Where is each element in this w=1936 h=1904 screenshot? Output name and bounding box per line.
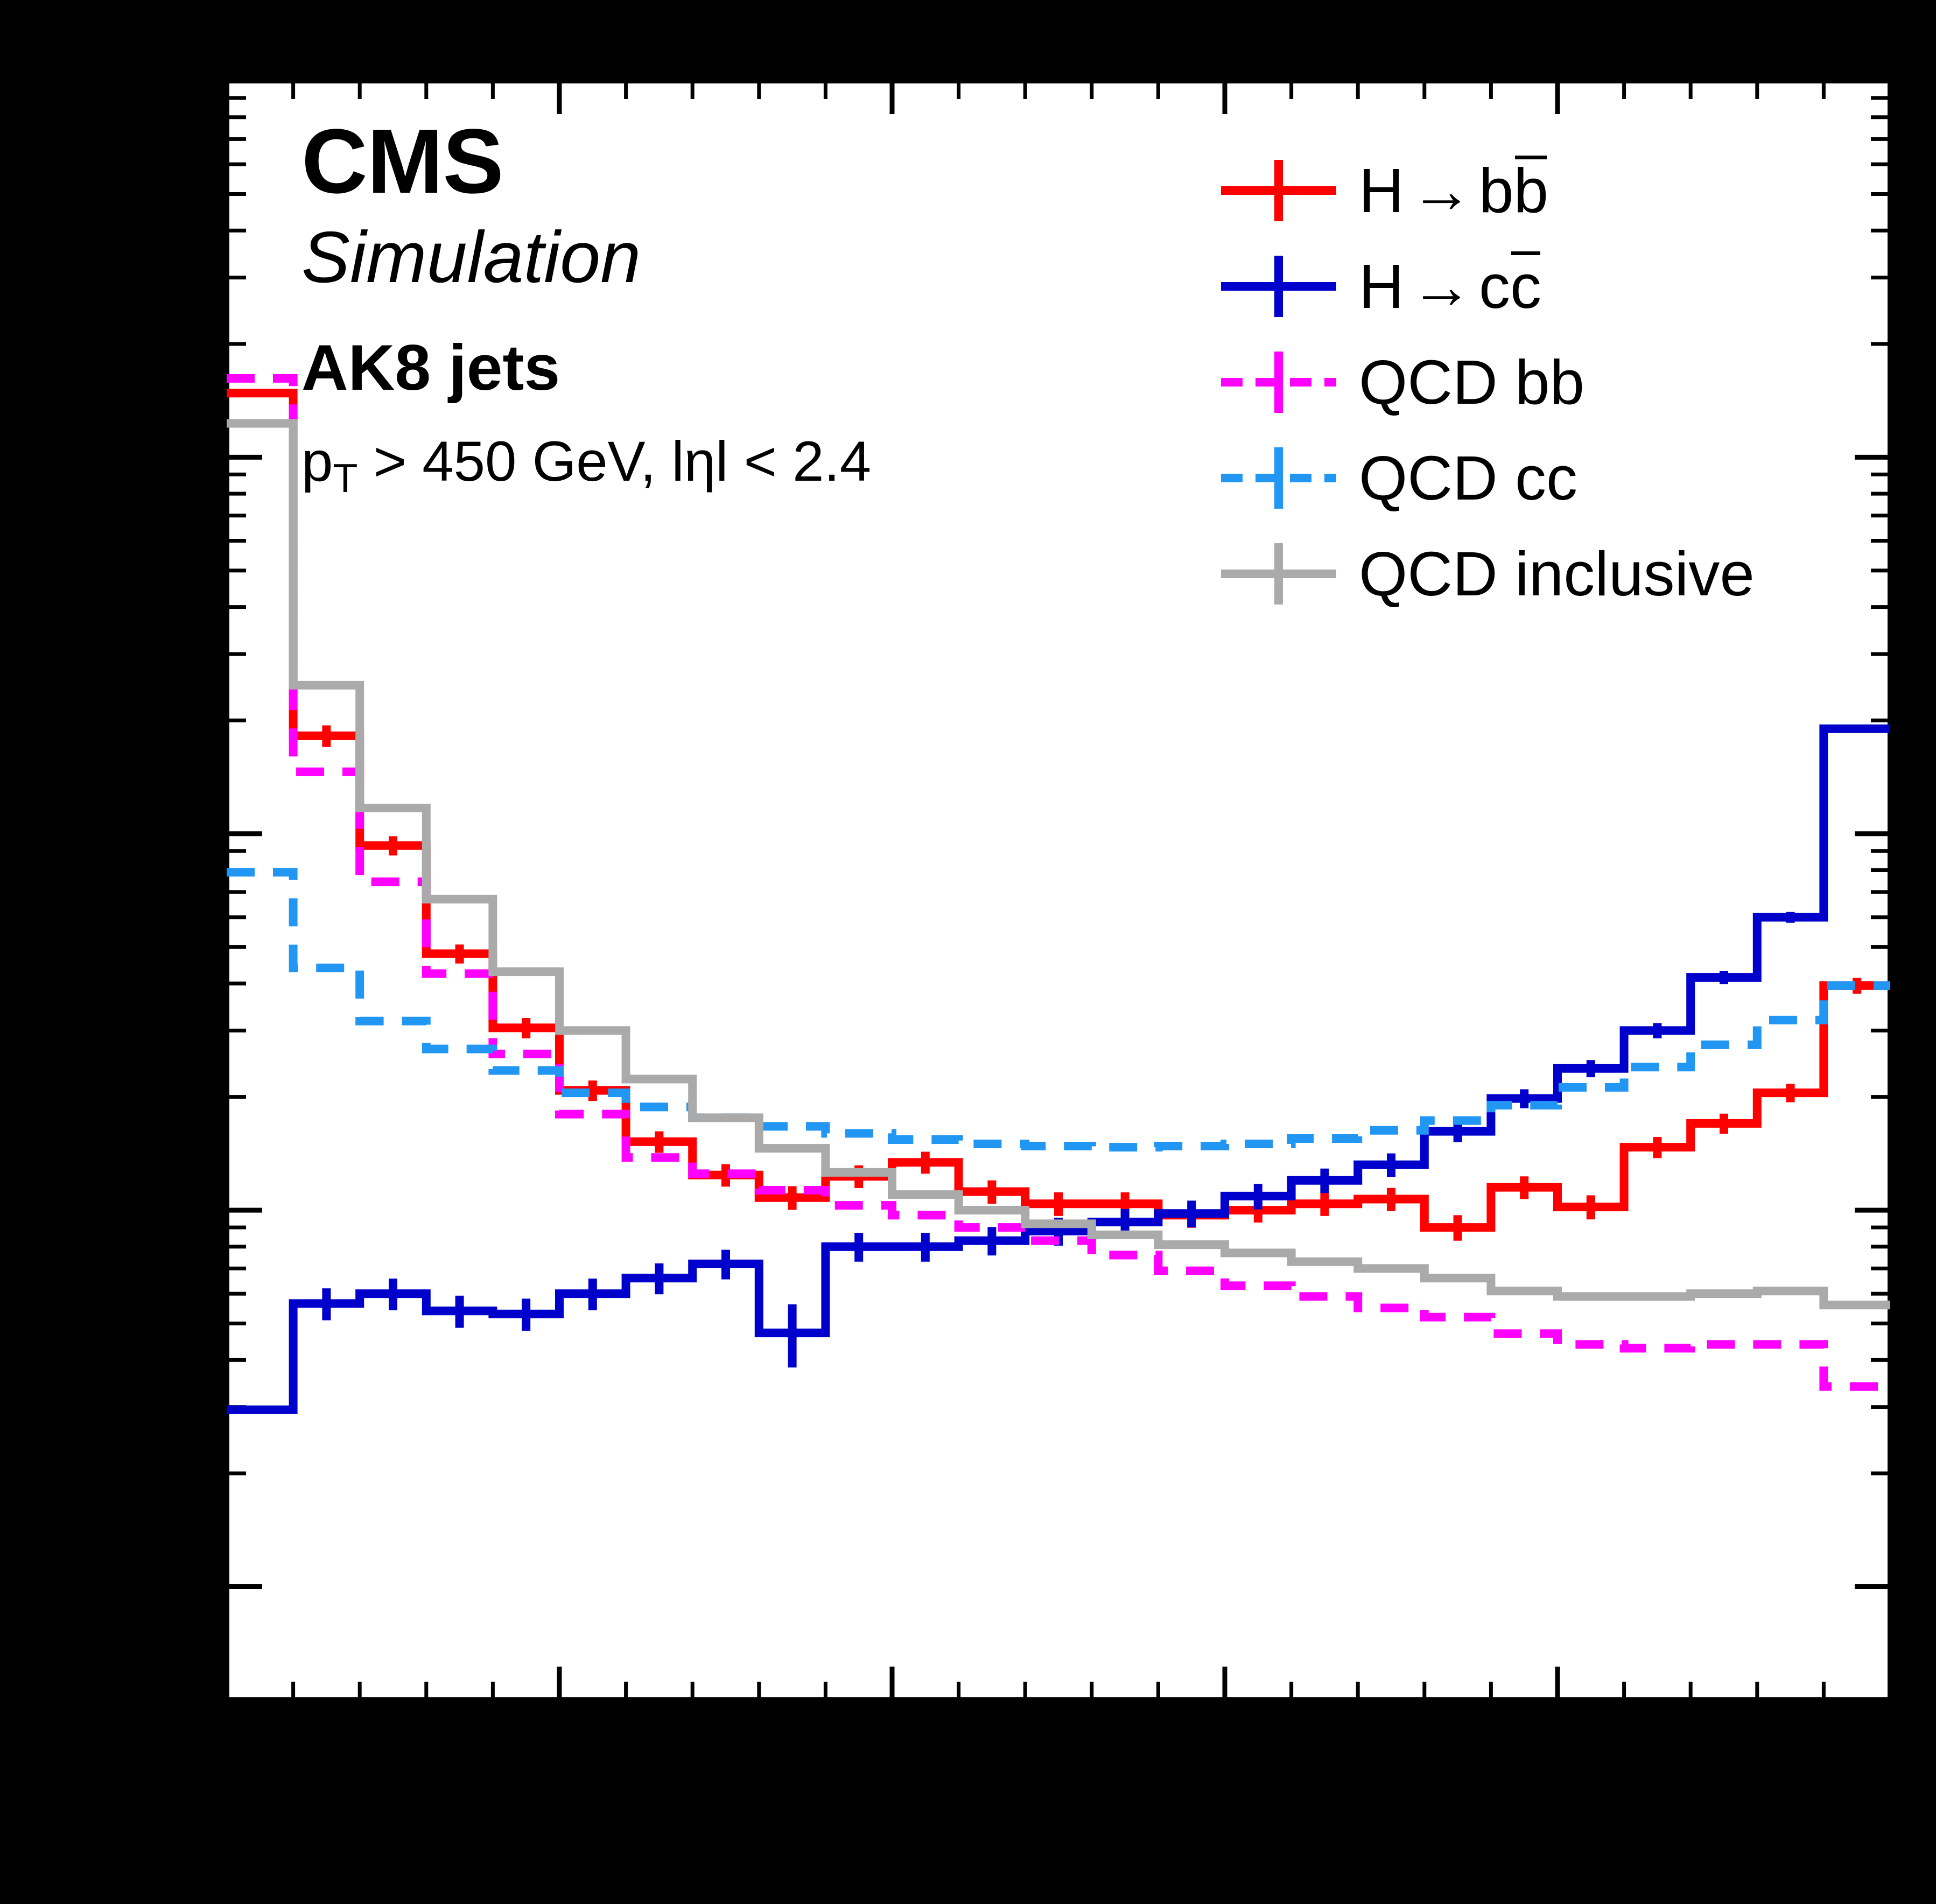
legend-entry-qcd-bb[interactable]: QCD bb <box>1217 334 1917 430</box>
legend-marker-qcd-bb-icon <box>1217 347 1341 417</box>
legend: H→bbH→ccQCD bbQCD ccQCD inclusive <box>1217 143 1917 622</box>
legend-entry-h-to-bb[interactable]: H→bb <box>1217 143 1917 238</box>
legend-label-qcd-inclusive: QCD inclusive <box>1359 543 1755 605</box>
legend-marker-qcd-inclusive-icon <box>1217 539 1341 609</box>
legend-marker-h-to-cc-icon <box>1217 251 1341 321</box>
legend-label-qcd-cc: QCD cc <box>1359 447 1577 509</box>
legend-label-h-to-bb: H→bb <box>1359 159 1548 222</box>
legend-entry-qcd-inclusive[interactable]: QCD inclusive <box>1217 526 1917 622</box>
legend-label-qcd-bb: QCD bb <box>1359 351 1584 413</box>
legend-entry-qcd-cc[interactable]: QCD cc <box>1217 430 1917 526</box>
figure-root: CMS Simulation AK8 jets pT > 450 GeV, lη… <box>0 0 1936 1904</box>
legend-marker-h-to-bb-icon <box>1217 156 1341 226</box>
legend-label-h-to-cc: H→cc <box>1359 255 1541 318</box>
legend-marker-qcd-cc-icon <box>1217 443 1341 513</box>
series-qcd-cc <box>227 872 1890 1147</box>
legend-entry-h-to-cc[interactable]: H→cc <box>1217 238 1917 334</box>
